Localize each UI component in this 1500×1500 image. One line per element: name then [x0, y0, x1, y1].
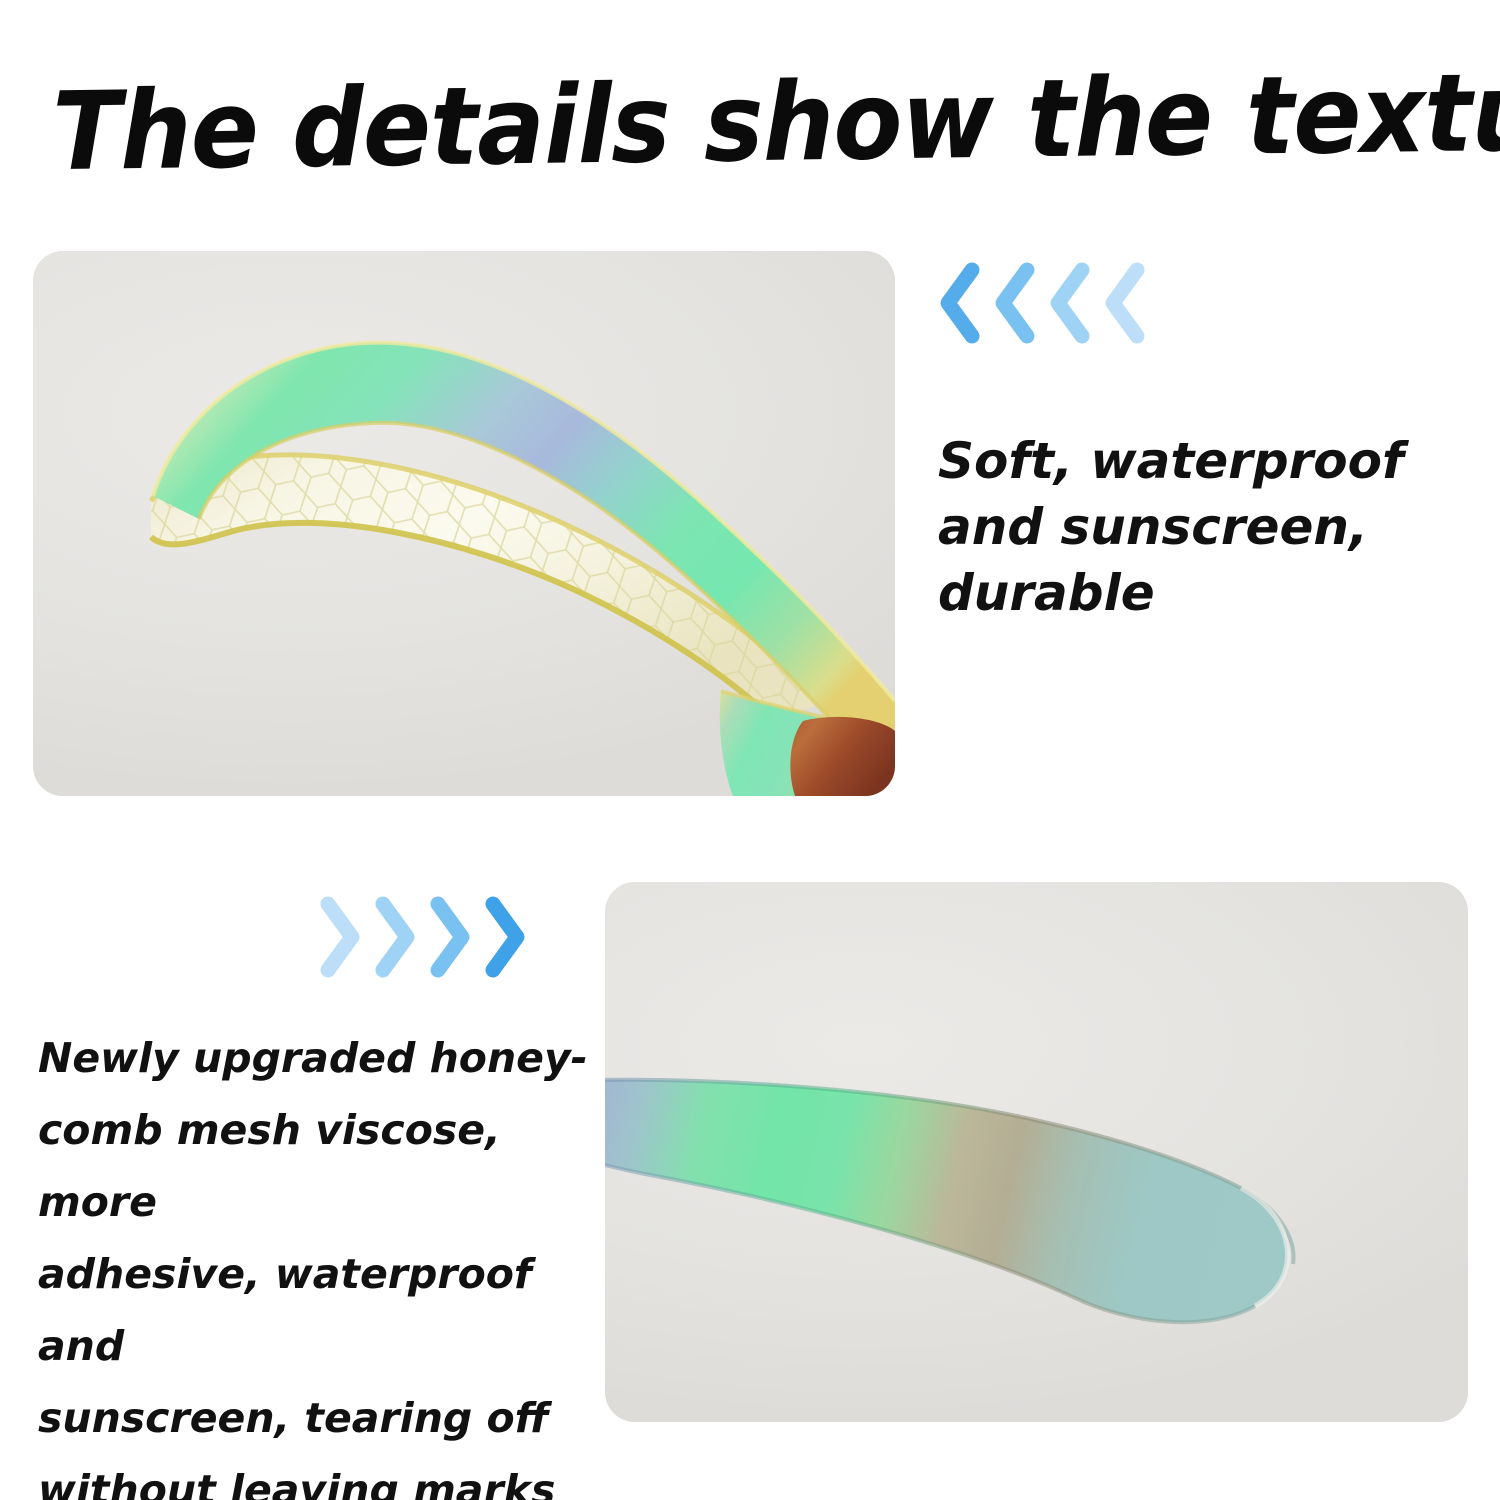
chevron-left-icon-2 — [991, 262, 1037, 344]
feature-bottom-line-4: sunscreen, tearing off — [38, 1382, 598, 1454]
chevron-right-icon-1 — [318, 896, 364, 978]
looped-tape-photo-panel — [33, 251, 895, 796]
feature-text-right: Soft, waterproof and sunscreen, durable — [938, 428, 1458, 626]
feature-right-line-2: and sunscreen, — [938, 494, 1458, 560]
tape-loop-illustration — [33, 251, 895, 796]
infographic-page: The details show the texture — [0, 0, 1500, 1500]
feature-right-line-1: Soft, waterproof — [938, 428, 1458, 494]
chevron-left-group — [936, 262, 1147, 344]
chevron-left-icon-3 — [1046, 262, 1092, 344]
wooden-prop — [790, 717, 895, 796]
feature-right-line-3: durable — [938, 560, 1458, 626]
chevron-right-group — [318, 896, 529, 978]
feature-bottom-line-2: comb mesh viscose, more — [38, 1094, 598, 1238]
page-title: The details show the texture — [52, 53, 1448, 195]
tape-closeup-photo-panel — [605, 882, 1468, 1422]
chevron-right-icon-2 — [373, 896, 419, 978]
chevron-left-icon-4 — [1101, 262, 1147, 344]
feature-bottom-line-5: without leaving marks — [38, 1454, 598, 1500]
feature-text-bottom-left: Newly upgraded honey- comb mesh viscose,… — [38, 1022, 598, 1500]
tape-strip-illustration — [605, 882, 1468, 1422]
feature-bottom-line-3: adhesive, waterproof and — [38, 1238, 598, 1382]
chevron-right-icon-4 — [483, 896, 529, 978]
feature-bottom-line-1: Newly upgraded honey- — [38, 1022, 598, 1094]
chevron-right-icon-3 — [428, 896, 474, 978]
chevron-left-icon-1 — [936, 262, 982, 344]
